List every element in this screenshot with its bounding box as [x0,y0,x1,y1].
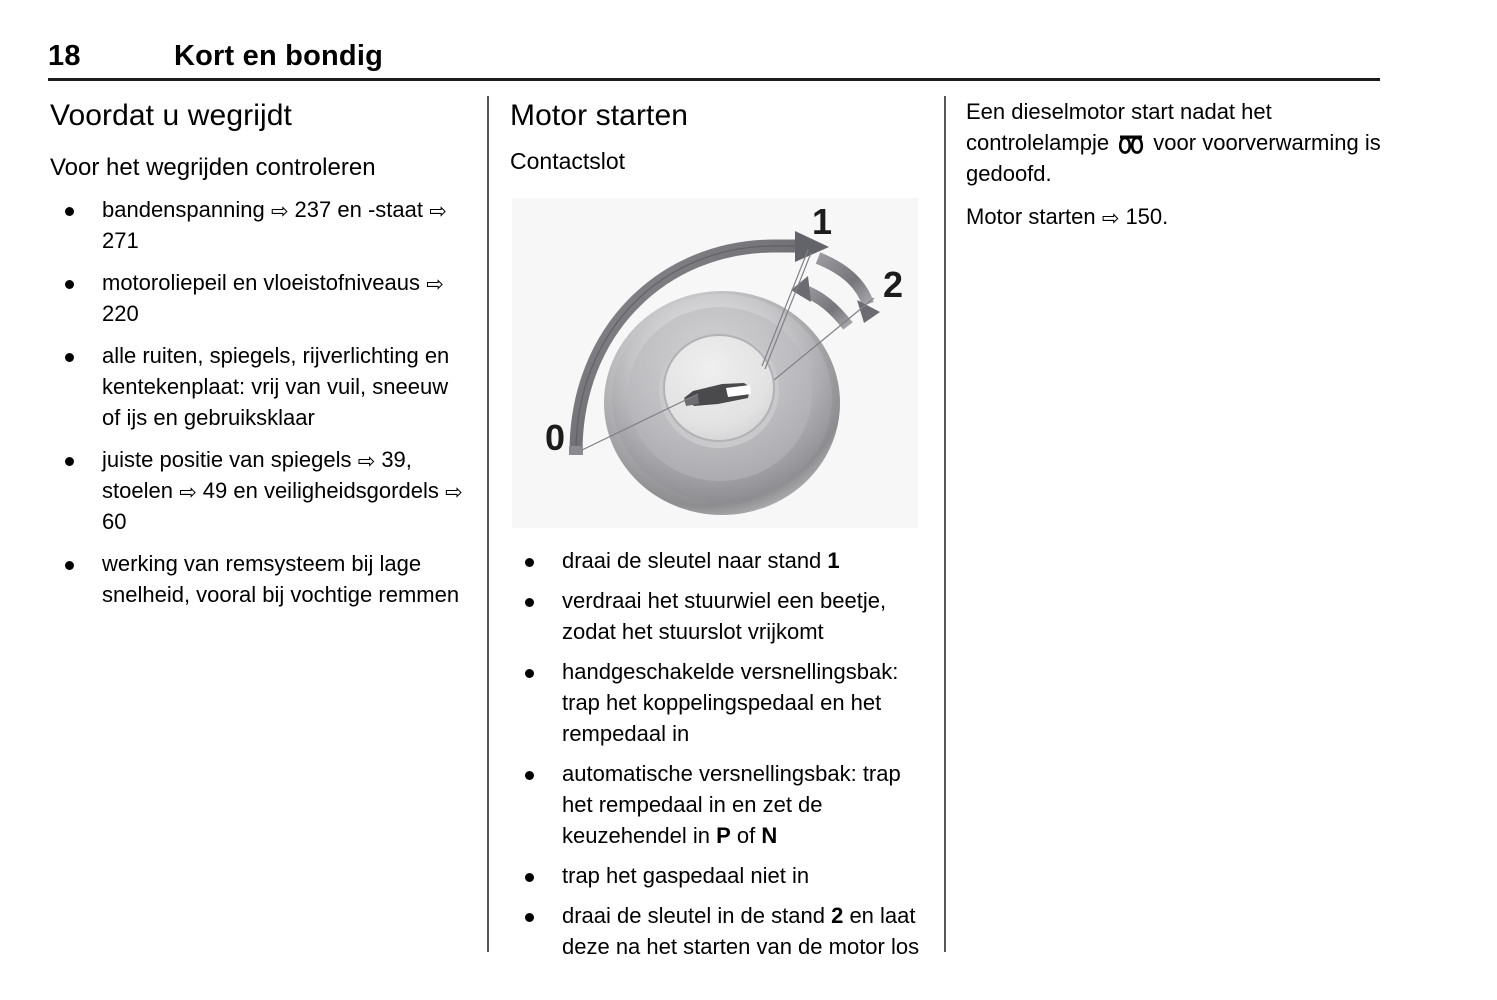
bullet-dot-icon [525,598,534,607]
paragraph: Motor starten ⇨ 150. [966,201,1381,232]
list-item: draai de sleutel in de stand 2 en laat d… [510,900,928,962]
list-item: alle ruiten, spiegels, rijverlichting en… [50,340,470,433]
text-run: motoroliepeil en vloeistofniveaus [102,270,426,295]
emphasis-run: P [716,823,731,848]
text-run: juiste positie van spiegels [102,447,358,472]
bullet-dot-icon [525,771,534,780]
engine-start-steps: draai de sleutel naar stand 1verdraai he… [510,545,928,962]
column-one: Voordat u wegrijdt Voor het wegrijden co… [50,96,470,621]
page-reference-arrow-icon: ⇨ [358,451,376,472]
text-run: Motor starten [966,204,1102,229]
text-run: 49 en veiligheidsgordels [197,478,445,503]
bullet-dot-icon [65,353,74,362]
pre-drive-checklist: bandenspanning ⇨ 237 en -staat ⇨ 271moto… [50,194,470,610]
column-three: Een dieselmotor start nadat het controle… [966,96,1381,244]
page-reference-arrow-icon: ⇨ [426,274,444,295]
emphasis-run: 1 [827,548,839,573]
bullet-dot-icon [65,207,74,216]
page-reference-arrow-icon: ⇨ [429,201,447,222]
text-run: 237 en -staat [288,197,429,222]
text-run: verdraai het stuurwiel een beetje, zodat… [562,588,886,644]
column1-subheading: Voor het wegrijden controleren [50,152,470,184]
text-run: of [731,823,762,848]
column-two-list-wrapper: draai de sleutel naar stand 1verdraai he… [510,545,928,971]
column-divider-1 [487,96,489,952]
text-run: 271 [102,228,139,253]
emphasis-run: N [761,823,777,848]
column-divider-2 [944,96,946,952]
text-run: 60 [102,509,126,534]
figure-label-0: 0 [545,417,565,458]
bullet-dot-icon [525,873,534,882]
bullet-dot-icon [65,561,74,570]
paragraph: Een dieselmotor start nadat het controle… [966,96,1381,189]
bullet-dot-icon [525,913,534,922]
text-run: 220 [102,301,139,326]
ignition-switch-figure: 0 1 2 [512,198,918,528]
bullet-dot-icon [65,457,74,466]
list-item: automatische versnellingsbak: trap het r… [510,758,928,851]
chapter-title: Kort en bondig [174,40,383,73]
text-run: draai de sleutel naar stand [562,548,827,573]
page-reference-arrow-icon: ⇨ [179,482,197,503]
figure-label-2: 2 [883,264,903,305]
column-two: Motor starten Contactslot [510,96,928,190]
text-run: werking van remsysteem bij lage snelheid… [102,551,459,607]
text-run: handgeschakelde versnellingsbak: trap he… [562,659,898,746]
page-reference-arrow-icon: ⇨ [445,482,463,503]
list-item: werking van remsysteem bij lage snelheid… [50,548,470,610]
figure-label-1: 1 [812,201,832,242]
text-run: trap het gaspedaal niet in [562,863,809,888]
list-item: juiste positie van spiegels ⇨ 39, stoele… [50,444,470,537]
bullet-dot-icon [525,669,534,678]
list-item: trap het gaspedaal niet in [510,860,928,891]
list-item: motoroliepeil en vloeistofniveaus ⇨ 220 [50,267,470,329]
glow-plug-preheating-icon [1118,134,1144,154]
diesel-note: Een dieselmotor start nadat het controle… [966,96,1381,232]
column2-subheading: Contactslot [510,146,928,176]
text-run: alle ruiten, spiegels, rijverlichting en… [102,343,449,430]
list-item: verdraai het stuurwiel een beetje, zodat… [510,585,928,647]
page-reference-arrow-icon: ⇨ [271,201,289,222]
bullet-dot-icon [65,280,74,289]
list-item: bandenspanning ⇨ 237 en -staat ⇨ 271 [50,194,470,256]
list-item: draai de sleutel naar stand 1 [510,545,928,576]
column2-heading: Motor starten [510,96,928,136]
page-number: 18 [48,40,81,73]
text-run: draai de sleutel in de stand [562,903,831,928]
list-item: handgeschakelde versnellingsbak: trap he… [510,656,928,749]
header-divider-rule [48,78,1380,81]
text-run: bandenspanning [102,197,271,222]
emphasis-run: 2 [831,903,843,928]
bullet-dot-icon [525,558,534,567]
page-reference-arrow-icon: ⇨ [1102,208,1120,229]
column1-heading: Voordat u wegrijdt [50,96,470,136]
text-run: 150. [1119,204,1168,229]
